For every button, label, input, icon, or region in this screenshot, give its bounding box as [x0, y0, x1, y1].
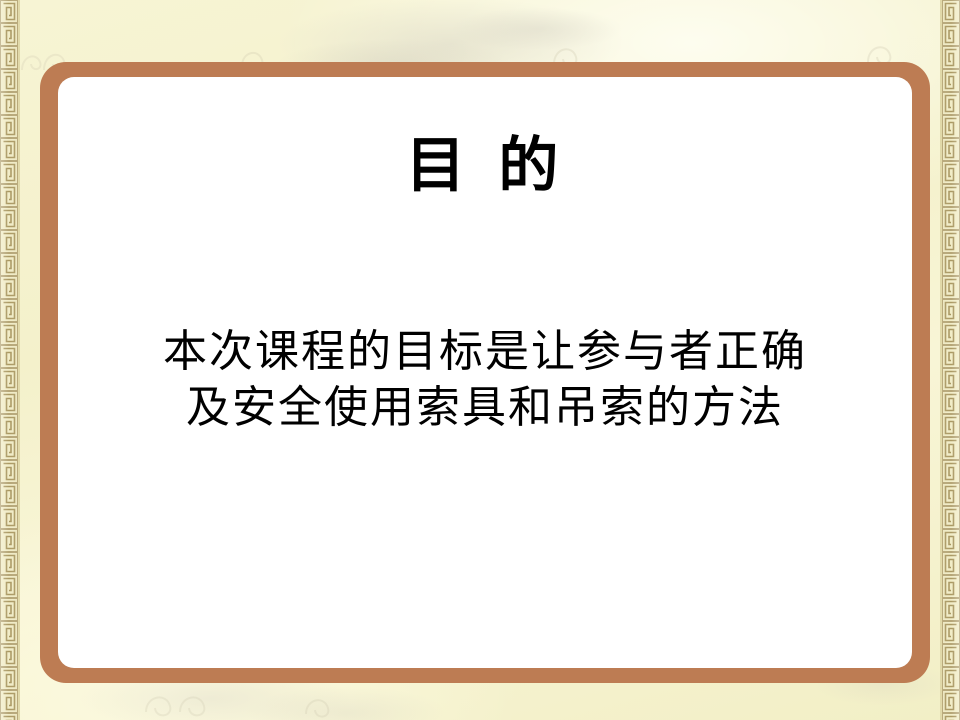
slide-body-text: 本次课程的目标是让参与者正确 及安全使用索具和吊索的方法	[100, 324, 870, 436]
scroll-motif-bottom-mid	[300, 686, 360, 720]
scroll-motif-bottom-left	[140, 682, 230, 720]
greek-key-border-left	[0, 0, 20, 720]
slide-canvas: 目 的 本次课程的目标是让参与者正确 及安全使用索具和吊索的方法	[0, 0, 960, 720]
page-title: 目 的	[40, 134, 930, 198]
body-line-1: 本次课程的目标是让参与者正确	[100, 324, 870, 380]
slide-content: 目 的 本次课程的目标是让参与者正确 及安全使用索具和吊索的方法	[40, 62, 930, 683]
body-line-2: 及安全使用索具和吊索的方法	[100, 380, 870, 436]
greek-key-border-right	[940, 0, 960, 720]
